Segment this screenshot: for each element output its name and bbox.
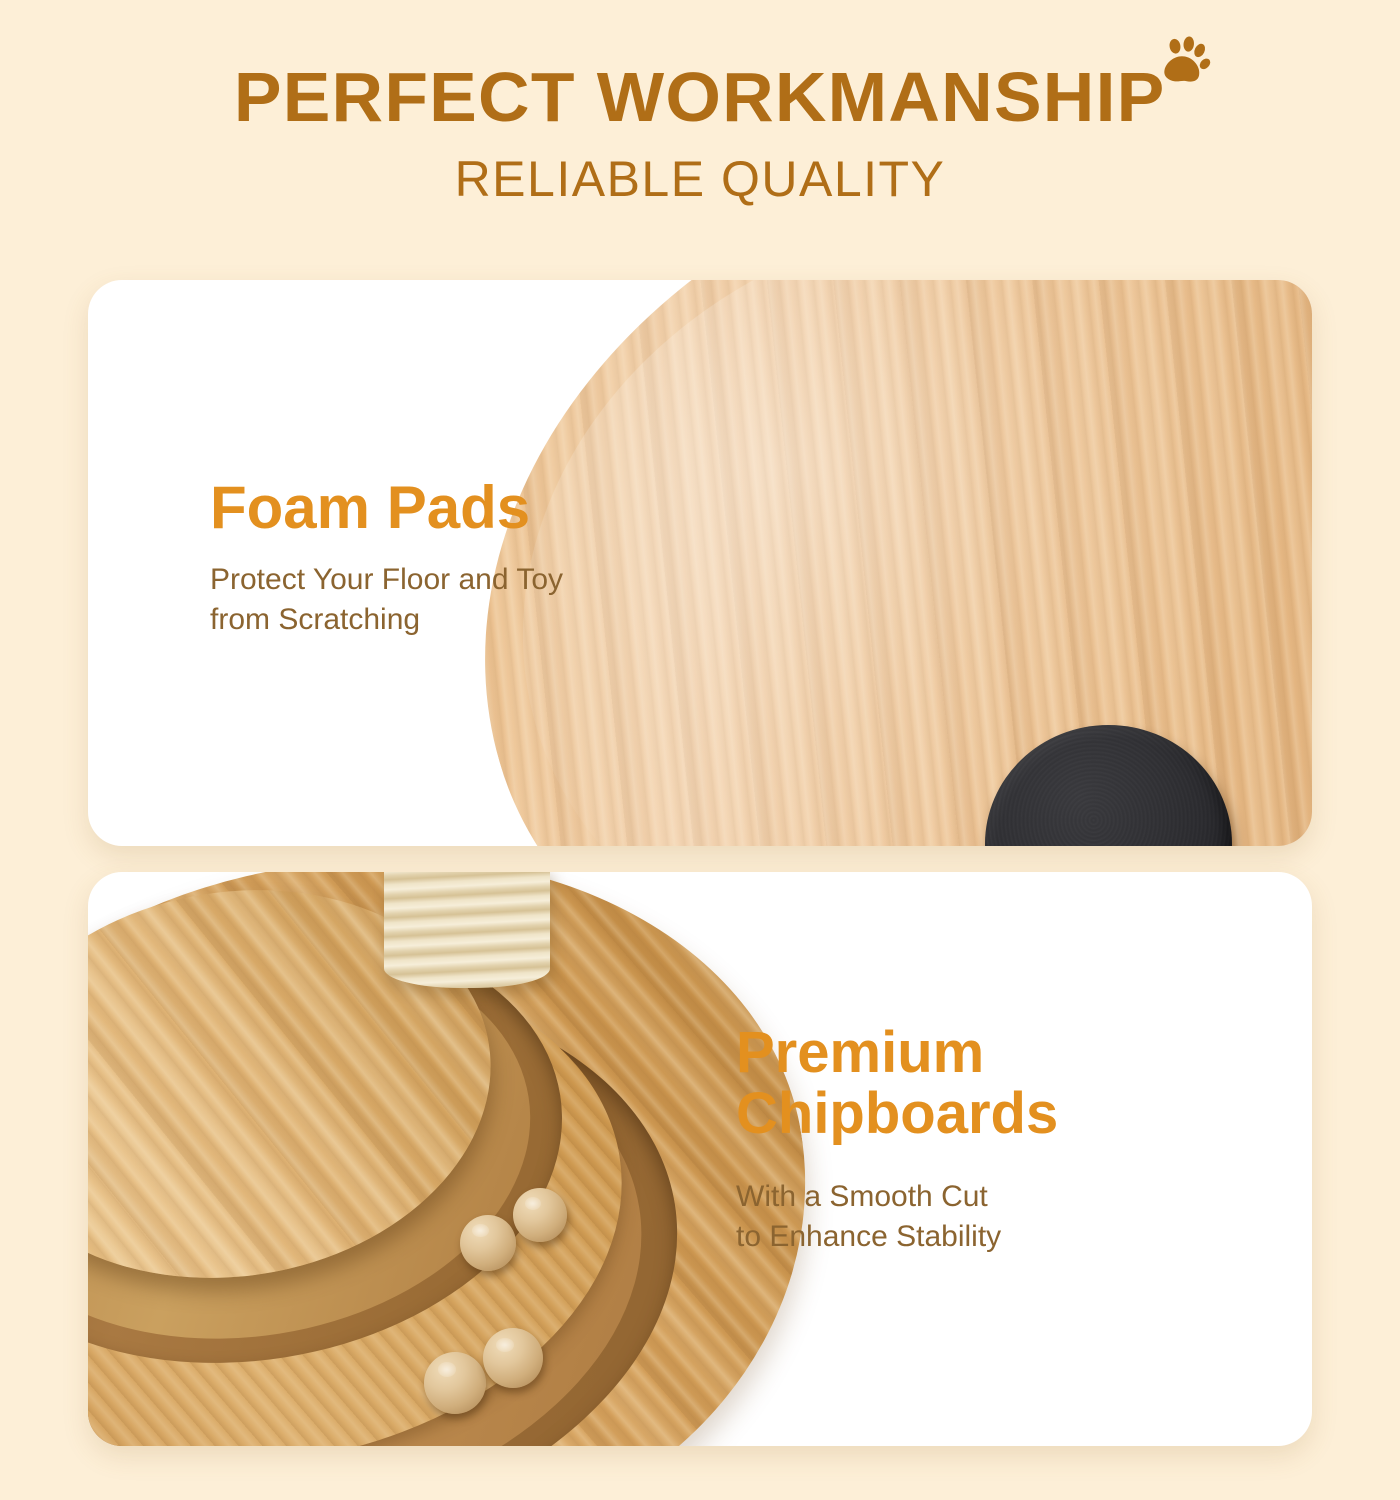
premium-chipboards-heading-line-2: Chipboards: [736, 1083, 1058, 1144]
oak-chipboard-turntable-photo: [88, 872, 1312, 1446]
premium-chipboards-heading: Premium Chipboards: [736, 1022, 1058, 1145]
title-row: PERFECT WORKMANSHIP: [243, 62, 1156, 132]
foam-pads-subtitle-line-1: Protect Your Floor and Toy: [210, 560, 563, 600]
foam-pads-subtitle-line-2: from Scratching: [210, 600, 563, 640]
foam-pads-text-block: Foam Pads Protect Your Floor and Toy fro…: [210, 476, 563, 640]
card-premium-chipboards: Premium Chipboards With a Smooth Cut to …: [88, 872, 1312, 1446]
card-foam-pads: Foam Pads Protect Your Floor and Toy fro…: [88, 280, 1312, 846]
wooden-ball: [460, 1215, 516, 1271]
premium-chipboards-subtitle-line-2: to Enhance Stability: [736, 1217, 1058, 1257]
wooden-ball: [513, 1188, 567, 1242]
sisal-rope-post: [384, 872, 550, 988]
wooden-ball: [483, 1328, 543, 1388]
foam-pads-subtitle: Protect Your Floor and Toy from Scratchi…: [210, 560, 563, 640]
wooden-ball: [424, 1352, 486, 1414]
foam-pads-heading: Foam Pads: [210, 476, 563, 540]
page-header: PERFECT WORKMANSHIP RELIABLE QUALITY: [0, 0, 1400, 258]
page-subtitle: RELIABLE QUALITY: [0, 154, 1400, 204]
premium-chipboards-text-block: Premium Chipboards With a Smooth Cut to …: [736, 1022, 1058, 1257]
premium-chipboards-subtitle: With a Smooth Cut to Enhance Stability: [736, 1177, 1058, 1257]
page-title: PERFECT WORKMANSHIP: [234, 62, 1166, 132]
paw-print-icon: [1157, 34, 1211, 94]
premium-chipboards-subtitle-line-1: With a Smooth Cut: [736, 1177, 1058, 1217]
premium-chipboards-heading-line-1: Premium: [736, 1022, 1058, 1083]
